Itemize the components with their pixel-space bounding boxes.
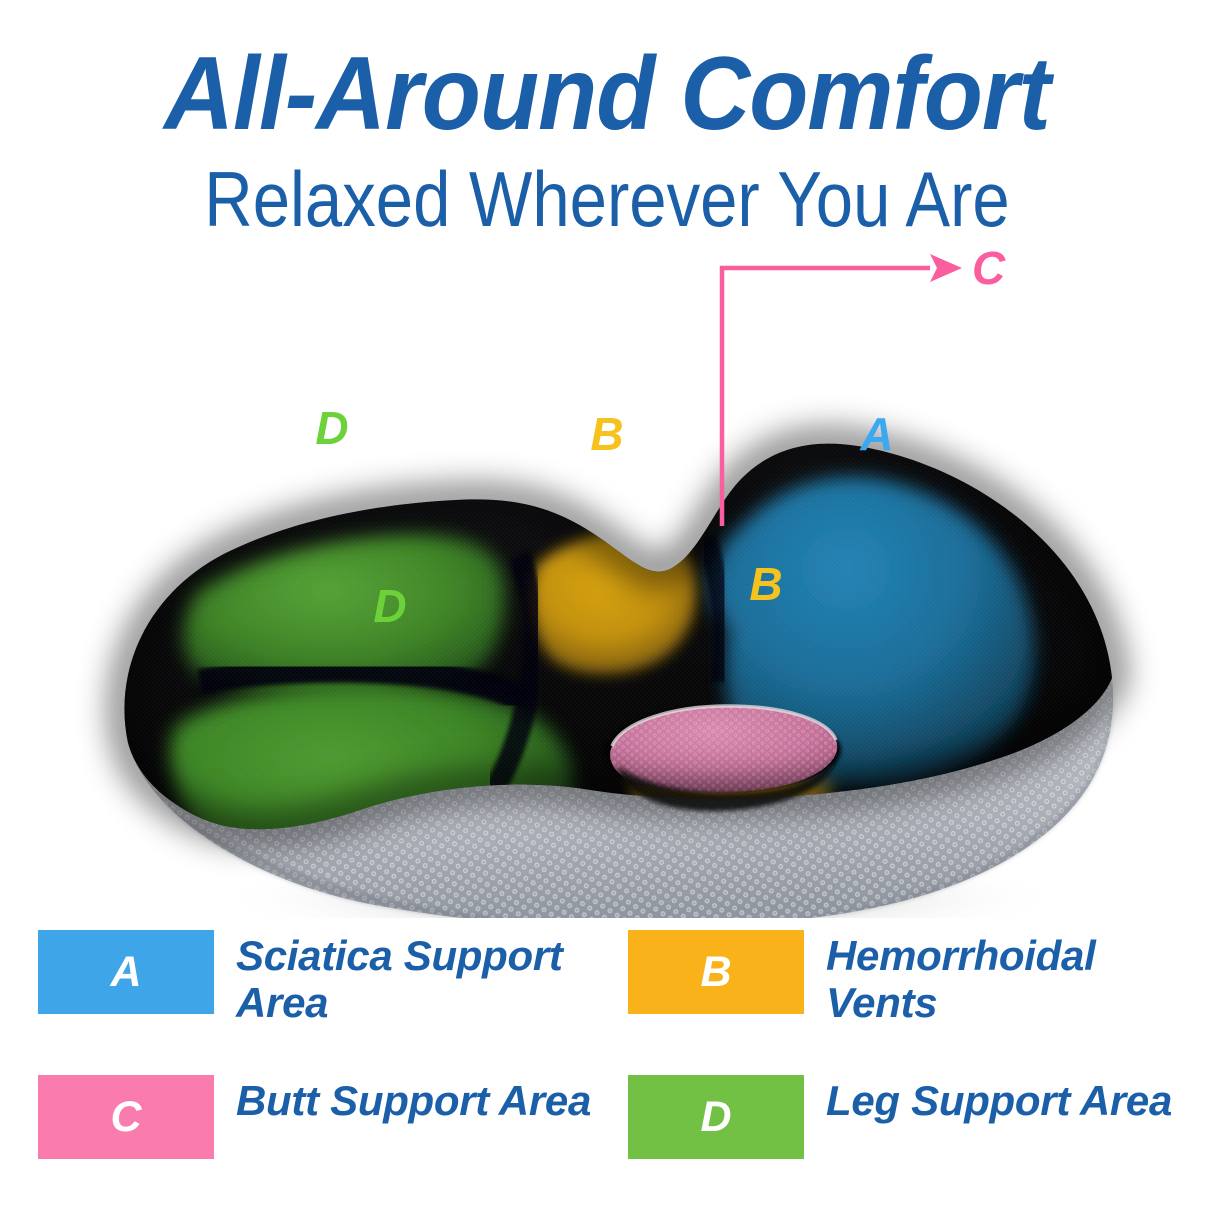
legend-swatch-a: A bbox=[38, 930, 214, 1014]
legend-swatch-letter-b: B bbox=[700, 951, 731, 994]
callout-c-arrowhead bbox=[930, 254, 962, 282]
legend-label-b: Hemorrhoidal Vents bbox=[826, 930, 1186, 1026]
product-image: D D B B A C bbox=[0, 238, 1214, 918]
zone-letter-d-lower-label: D bbox=[373, 580, 406, 632]
zone-letter-d-upper-label: D bbox=[315, 402, 348, 454]
cushion-illustration: D D B B A C bbox=[0, 238, 1214, 918]
legend-swatch-c: C bbox=[38, 1075, 214, 1159]
legend-swatch-letter-c: C bbox=[110, 1096, 141, 1139]
legend-item-a[interactable]: A Sciatica Support Area bbox=[38, 930, 628, 1075]
legend: A Sciatica Support Area B Hemorrhoidal V… bbox=[38, 930, 1186, 1195]
page-title: All-Around Comfort bbox=[42, 0, 1171, 146]
legend-item-b[interactable]: B Hemorrhoidal Vents bbox=[628, 930, 1186, 1075]
legend-swatch-b: B bbox=[628, 930, 804, 1014]
legend-swatch-d: D bbox=[628, 1075, 804, 1159]
callout-c-label: C bbox=[972, 242, 1006, 294]
legend-label-a: Sciatica Support Area bbox=[236, 930, 606, 1026]
zone-letter-a-right-label: A bbox=[859, 408, 893, 460]
zone-letter-b-upper-label: B bbox=[590, 408, 623, 460]
headline-block: All-Around Comfort Relaxed Wherever You … bbox=[0, 0, 1214, 238]
legend-swatch-letter-a: A bbox=[110, 951, 141, 994]
page-subtitle: Relaxed Wherever You Are bbox=[85, 146, 1129, 238]
legend-label-c: Butt Support Area bbox=[236, 1075, 591, 1124]
legend-swatch-letter-d: D bbox=[700, 1096, 731, 1139]
legend-item-d[interactable]: D Leg Support Area bbox=[628, 1075, 1186, 1195]
legend-item-c[interactable]: C Butt Support Area bbox=[38, 1075, 628, 1195]
legend-label-d: Leg Support Area bbox=[826, 1075, 1172, 1124]
zone-letter-b-lower-label: B bbox=[749, 558, 782, 610]
